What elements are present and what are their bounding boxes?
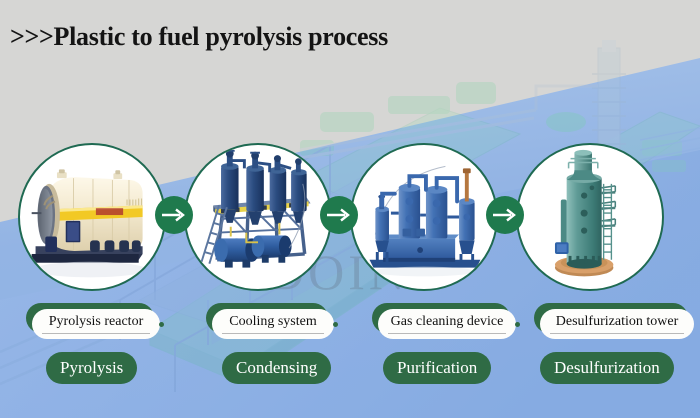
stage-pill-text-desulfurization: Desulfurization xyxy=(554,358,660,378)
label-card-cooling-system: Cooling system xyxy=(212,309,334,339)
arrow-step-2-to-3 xyxy=(320,196,358,234)
step-circle-pyrolysis-reactor[interactable] xyxy=(18,143,166,291)
stage-pill-text-condensing: Condensing xyxy=(236,358,317,378)
stage-pill-desulfurization[interactable]: Desulfurization xyxy=(540,352,674,384)
label-text-pyrolysis-reactor: Pyrolysis reactor xyxy=(49,315,143,329)
stage-pill-pyrolysis[interactable]: Pyrolysis xyxy=(46,352,137,384)
arrow-step-3-to-4 xyxy=(486,196,524,234)
desulfurization-tower-icon xyxy=(518,145,662,289)
arrow-right-icon xyxy=(327,208,351,222)
gas-cleaning-device-icon xyxy=(352,145,496,289)
stage-pill-text-purification: Purification xyxy=(397,358,477,378)
arrow-step-1-to-2 xyxy=(155,196,193,234)
label-underline xyxy=(42,333,150,334)
arrow-right-icon xyxy=(493,208,517,222)
stage-pill-condensing[interactable]: Condensing xyxy=(222,352,331,384)
cooling-system-icon xyxy=(186,145,330,289)
label-underline xyxy=(388,333,506,334)
label-text-desulfurization-tower: Desulfurization tower xyxy=(556,315,678,329)
label-underline xyxy=(550,333,684,334)
stage-pill-purification[interactable]: Purification xyxy=(383,352,491,384)
label-card-desulfurization-tower: Desulfurization tower xyxy=(540,309,694,339)
label-card-pyrolysis-reactor: Pyrolysis reactor xyxy=(32,309,160,339)
label-dot xyxy=(333,322,338,327)
step-circle-gas-cleaning-device[interactable] xyxy=(350,143,498,291)
label-dot xyxy=(159,322,164,327)
step-circle-cooling-system[interactable] xyxy=(184,143,332,291)
arrow-right-icon xyxy=(162,208,186,222)
label-text-cooling-system: Cooling system xyxy=(229,315,317,329)
pyrolysis-reactor-icon xyxy=(20,145,164,289)
step-circle-desulfurization-tower[interactable] xyxy=(516,143,664,291)
label-underline xyxy=(222,333,324,334)
label-card-gas-cleaning-device: Gas cleaning device xyxy=(378,309,516,339)
label-text-gas-cleaning-device: Gas cleaning device xyxy=(391,315,504,329)
label-dot xyxy=(515,322,520,327)
page-title: >>>Plastic to fuel pyrolysis process xyxy=(10,22,388,52)
process-infographic: DOING >>>Plastic to fuel pyrolysis proce… xyxy=(0,0,700,418)
stage-pill-text-pyrolysis: Pyrolysis xyxy=(60,358,123,378)
